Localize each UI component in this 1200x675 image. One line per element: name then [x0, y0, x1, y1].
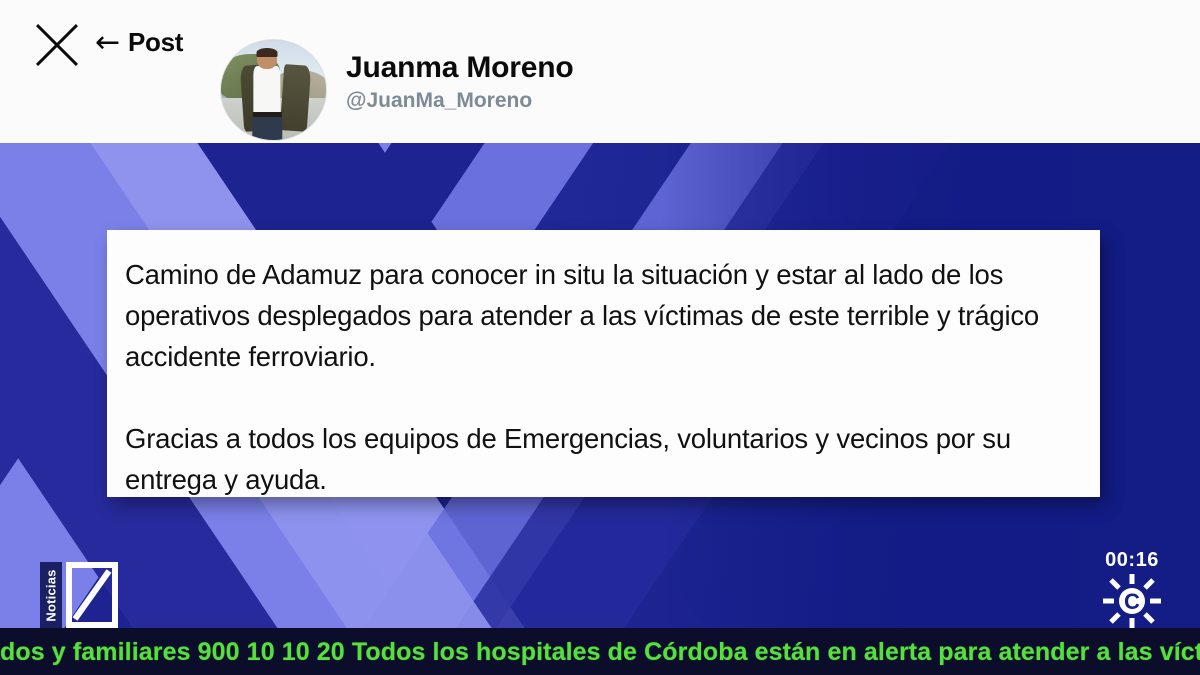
tweet-card: Camino de Adamuz para conocer in situ la…	[107, 230, 1100, 497]
sun-logo-letter: C	[1124, 589, 1140, 614]
news-ticker: ados y familiares 900 10 10 20 Todos los…	[0, 628, 1200, 675]
account-handle[interactable]: @JuanMa_Moreno	[346, 88, 532, 114]
news-ticker-text: ados y familiares 900 10 10 20 Todos los…	[0, 638, 1200, 666]
avatar-pants	[252, 116, 281, 140]
back-arrow-icon[interactable]: ←	[95, 28, 120, 58]
avatar-hair	[257, 48, 278, 57]
channel-n-icon	[66, 562, 118, 628]
canalsur-sun-icon: C	[1089, 572, 1175, 630]
channel-program-label-text: Noticias	[44, 569, 59, 621]
channel-program-label: Noticias	[40, 562, 62, 628]
avatar[interactable]	[221, 40, 326, 140]
avatar-jacket-right	[280, 64, 312, 132]
account-display-name[interactable]: Juanma Moreno	[346, 50, 573, 86]
channel-logo-bug: Noticias	[40, 562, 118, 628]
on-air-clock: 00:16	[1089, 549, 1175, 572]
x-post-header: ← Post Juanma Moreno @JuanMa_Moreno	[0, 0, 1200, 143]
avatar-image	[221, 40, 326, 140]
tweet-body-text: Camino de Adamuz para conocer in situ la…	[125, 254, 1074, 500]
avatar-belt	[253, 112, 281, 117]
broadcast-screen: ← Post Juanma Moreno @JuanMa_Moreno	[0, 0, 1200, 675]
page-title: Post	[128, 26, 183, 58]
x-logo-icon	[34, 22, 80, 68]
